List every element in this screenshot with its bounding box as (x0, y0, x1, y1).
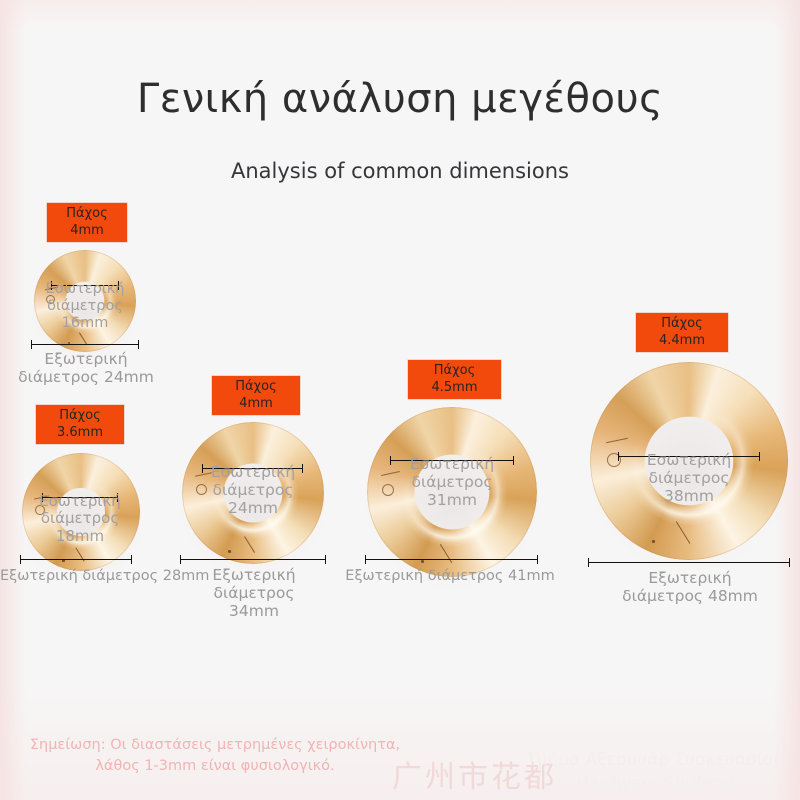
badge-value: 3.6mm (45, 424, 115, 441)
thickness-badge-24mm: Πάχος 4mm (47, 203, 127, 242)
thickness-badge-34mm: Πάχος 4mm (212, 376, 300, 415)
page-subtitle: Analysis of common dimensions (0, 159, 800, 183)
infographic-page: Γενική ανάλυση μεγέθους Analysis of comm… (0, 0, 800, 800)
badge-value: 4.5mm (417, 379, 492, 396)
badge-title: Πάχος (645, 315, 719, 332)
inner-dimension-label-28mm: Εσωτερική διάμετρος 18mm (25, 493, 135, 545)
thickness-badge-41mm: Πάχος 4.5mm (408, 360, 501, 399)
thickness-badge-28mm: Πάχος 3.6mm (36, 405, 124, 444)
badge-value: 4mm (221, 395, 291, 412)
note-line-2: λάθος 1-3mm είναι φυσιολογικό. (0, 756, 430, 777)
thickness-badge-48mm: Πάχος 4.4mm (636, 313, 728, 352)
measurement-note: Σημείωση: Οι διαστάσεις μετρημένες χειρο… (0, 735, 430, 777)
badge-title: Πάχος (56, 205, 118, 222)
ring-group-41mm: Πάχος 4.5mm Εσωτερική διάμετρος 31mm Εξω… (355, 352, 585, 602)
watermark-greek: Τμήμα Αξεσουάρ Συσκευασίας (505, 748, 800, 772)
inner-dimension-label-34mm: Εσωτερική διάμετρος 24mm (193, 464, 313, 518)
outer-dimension-label-34mm: Εξωτερική διάμετρος 34mm (189, 567, 319, 621)
outer-dimension-label-41mm: Εξωτερική διάμετρος 41mm (325, 568, 575, 585)
badge-value: 4.4mm (645, 332, 719, 349)
inner-dimension-label-48mm: Εσωτερική διάμετρος 38mm (629, 452, 749, 506)
outer-dimension-label-24mm: Εξωτερική διάμετρος 24mm (10, 351, 162, 387)
badge-title: Πάχος (417, 362, 492, 379)
inner-dimension-label-41mm: Εσωτερική διάμετρος 31mm (392, 456, 512, 510)
outer-dimension-label-48mm: Εξωτερική διάμετρος 48mm (615, 570, 765, 606)
watermark-english: Hardware Shufeng (505, 772, 800, 796)
ring-group-48mm: Πάχος 4.4mm Εσωτερική διάμετρος 38mm Εξω… (570, 300, 800, 610)
inner-dimension-label-24mm: Εσωτερική διάμετρος 16mm (35, 281, 135, 331)
note-line-1: Σημείωση: Οι διαστάσεις μετρημένες χειρο… (0, 735, 430, 756)
badge-title: Πάχος (221, 378, 291, 395)
watermark-brand: Τμήμα Αξεσουάρ Συσκευασίας Hardware Shuf… (505, 748, 800, 796)
badge-value: 4mm (56, 222, 118, 239)
page-title: Γενική ανάλυση μεγέθους (0, 76, 800, 122)
badge-title: Πάχος (45, 407, 115, 424)
